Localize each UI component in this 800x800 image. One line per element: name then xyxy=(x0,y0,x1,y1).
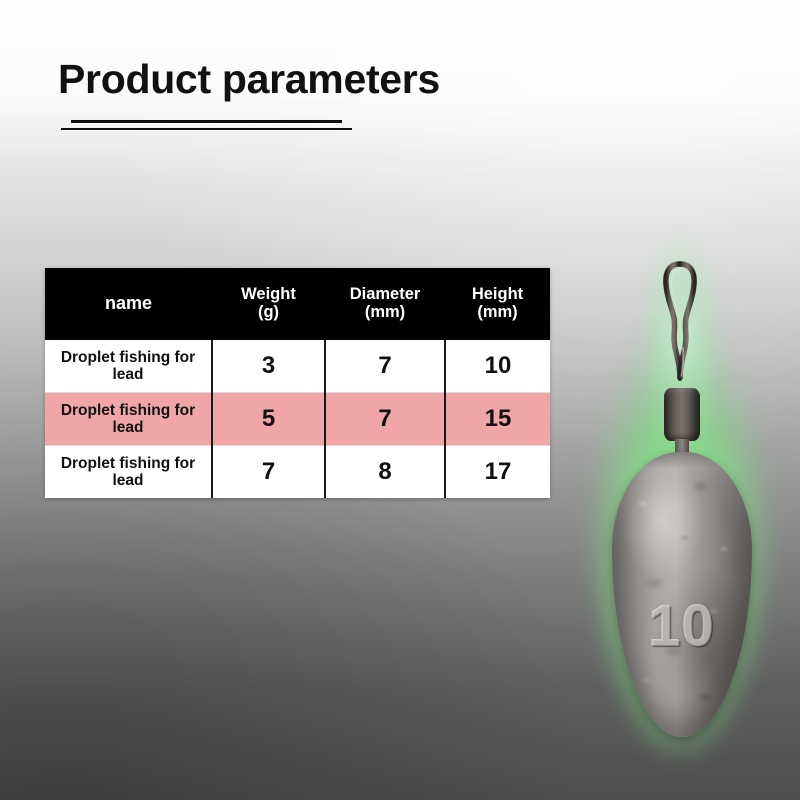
column-header-diameter: Diameter (mm) xyxy=(325,268,445,340)
title-underline-upper xyxy=(71,120,342,123)
column-header-weight-unit: (g) xyxy=(216,304,321,322)
cell-diameter: 7 xyxy=(325,393,445,446)
cell-weight: 5 xyxy=(212,393,325,446)
title-block: Product parameters xyxy=(58,58,578,101)
table-row: Droplet fishing for lead 7 8 17 xyxy=(45,446,550,499)
column-header-height: Height (mm) xyxy=(445,268,550,340)
cell-name: Droplet fishing for lead xyxy=(45,340,212,393)
title-underline-lower xyxy=(61,128,352,130)
cell-name: Droplet fishing for lead xyxy=(45,393,212,446)
column-header-name: name xyxy=(45,268,212,340)
cell-weight: 3 xyxy=(212,340,325,393)
product-image: 10 xyxy=(560,215,800,775)
table-row: Droplet fishing for lead 5 7 15 xyxy=(45,393,550,446)
table-header-row: name Weight (g) Diameter (mm) Height (mm… xyxy=(45,268,550,340)
cell-name: Droplet fishing for lead xyxy=(45,446,212,499)
cell-diameter: 7 xyxy=(325,340,445,393)
column-header-weight: Weight (g) xyxy=(212,268,325,340)
page-title: Product parameters xyxy=(58,58,578,101)
parameters-table: name Weight (g) Diameter (mm) Height (mm… xyxy=(45,268,550,498)
cell-diameter: 8 xyxy=(325,446,445,499)
column-header-height-label: Height xyxy=(472,285,523,303)
column-header-name-label: name xyxy=(105,293,152,313)
column-header-height-unit: (mm) xyxy=(449,304,546,322)
teardrop-lead-sinker: 10 xyxy=(612,452,752,737)
cell-height: 10 xyxy=(445,340,550,393)
lead-weight-marking: 10 xyxy=(612,598,752,656)
table-row: Droplet fishing for lead 3 7 10 xyxy=(45,340,550,393)
cell-height: 17 xyxy=(445,446,550,499)
product-parameters-page: Product parameters name Weight (g) Diame… xyxy=(0,0,800,800)
column-header-diameter-label: Diameter xyxy=(350,285,421,303)
cell-weight: 7 xyxy=(212,446,325,499)
column-header-weight-label: Weight xyxy=(241,285,296,303)
cell-height: 15 xyxy=(445,393,550,446)
wire-snap-clip-icon xyxy=(656,260,704,385)
barrel-swivel xyxy=(664,388,700,441)
column-header-diameter-unit: (mm) xyxy=(329,304,441,322)
